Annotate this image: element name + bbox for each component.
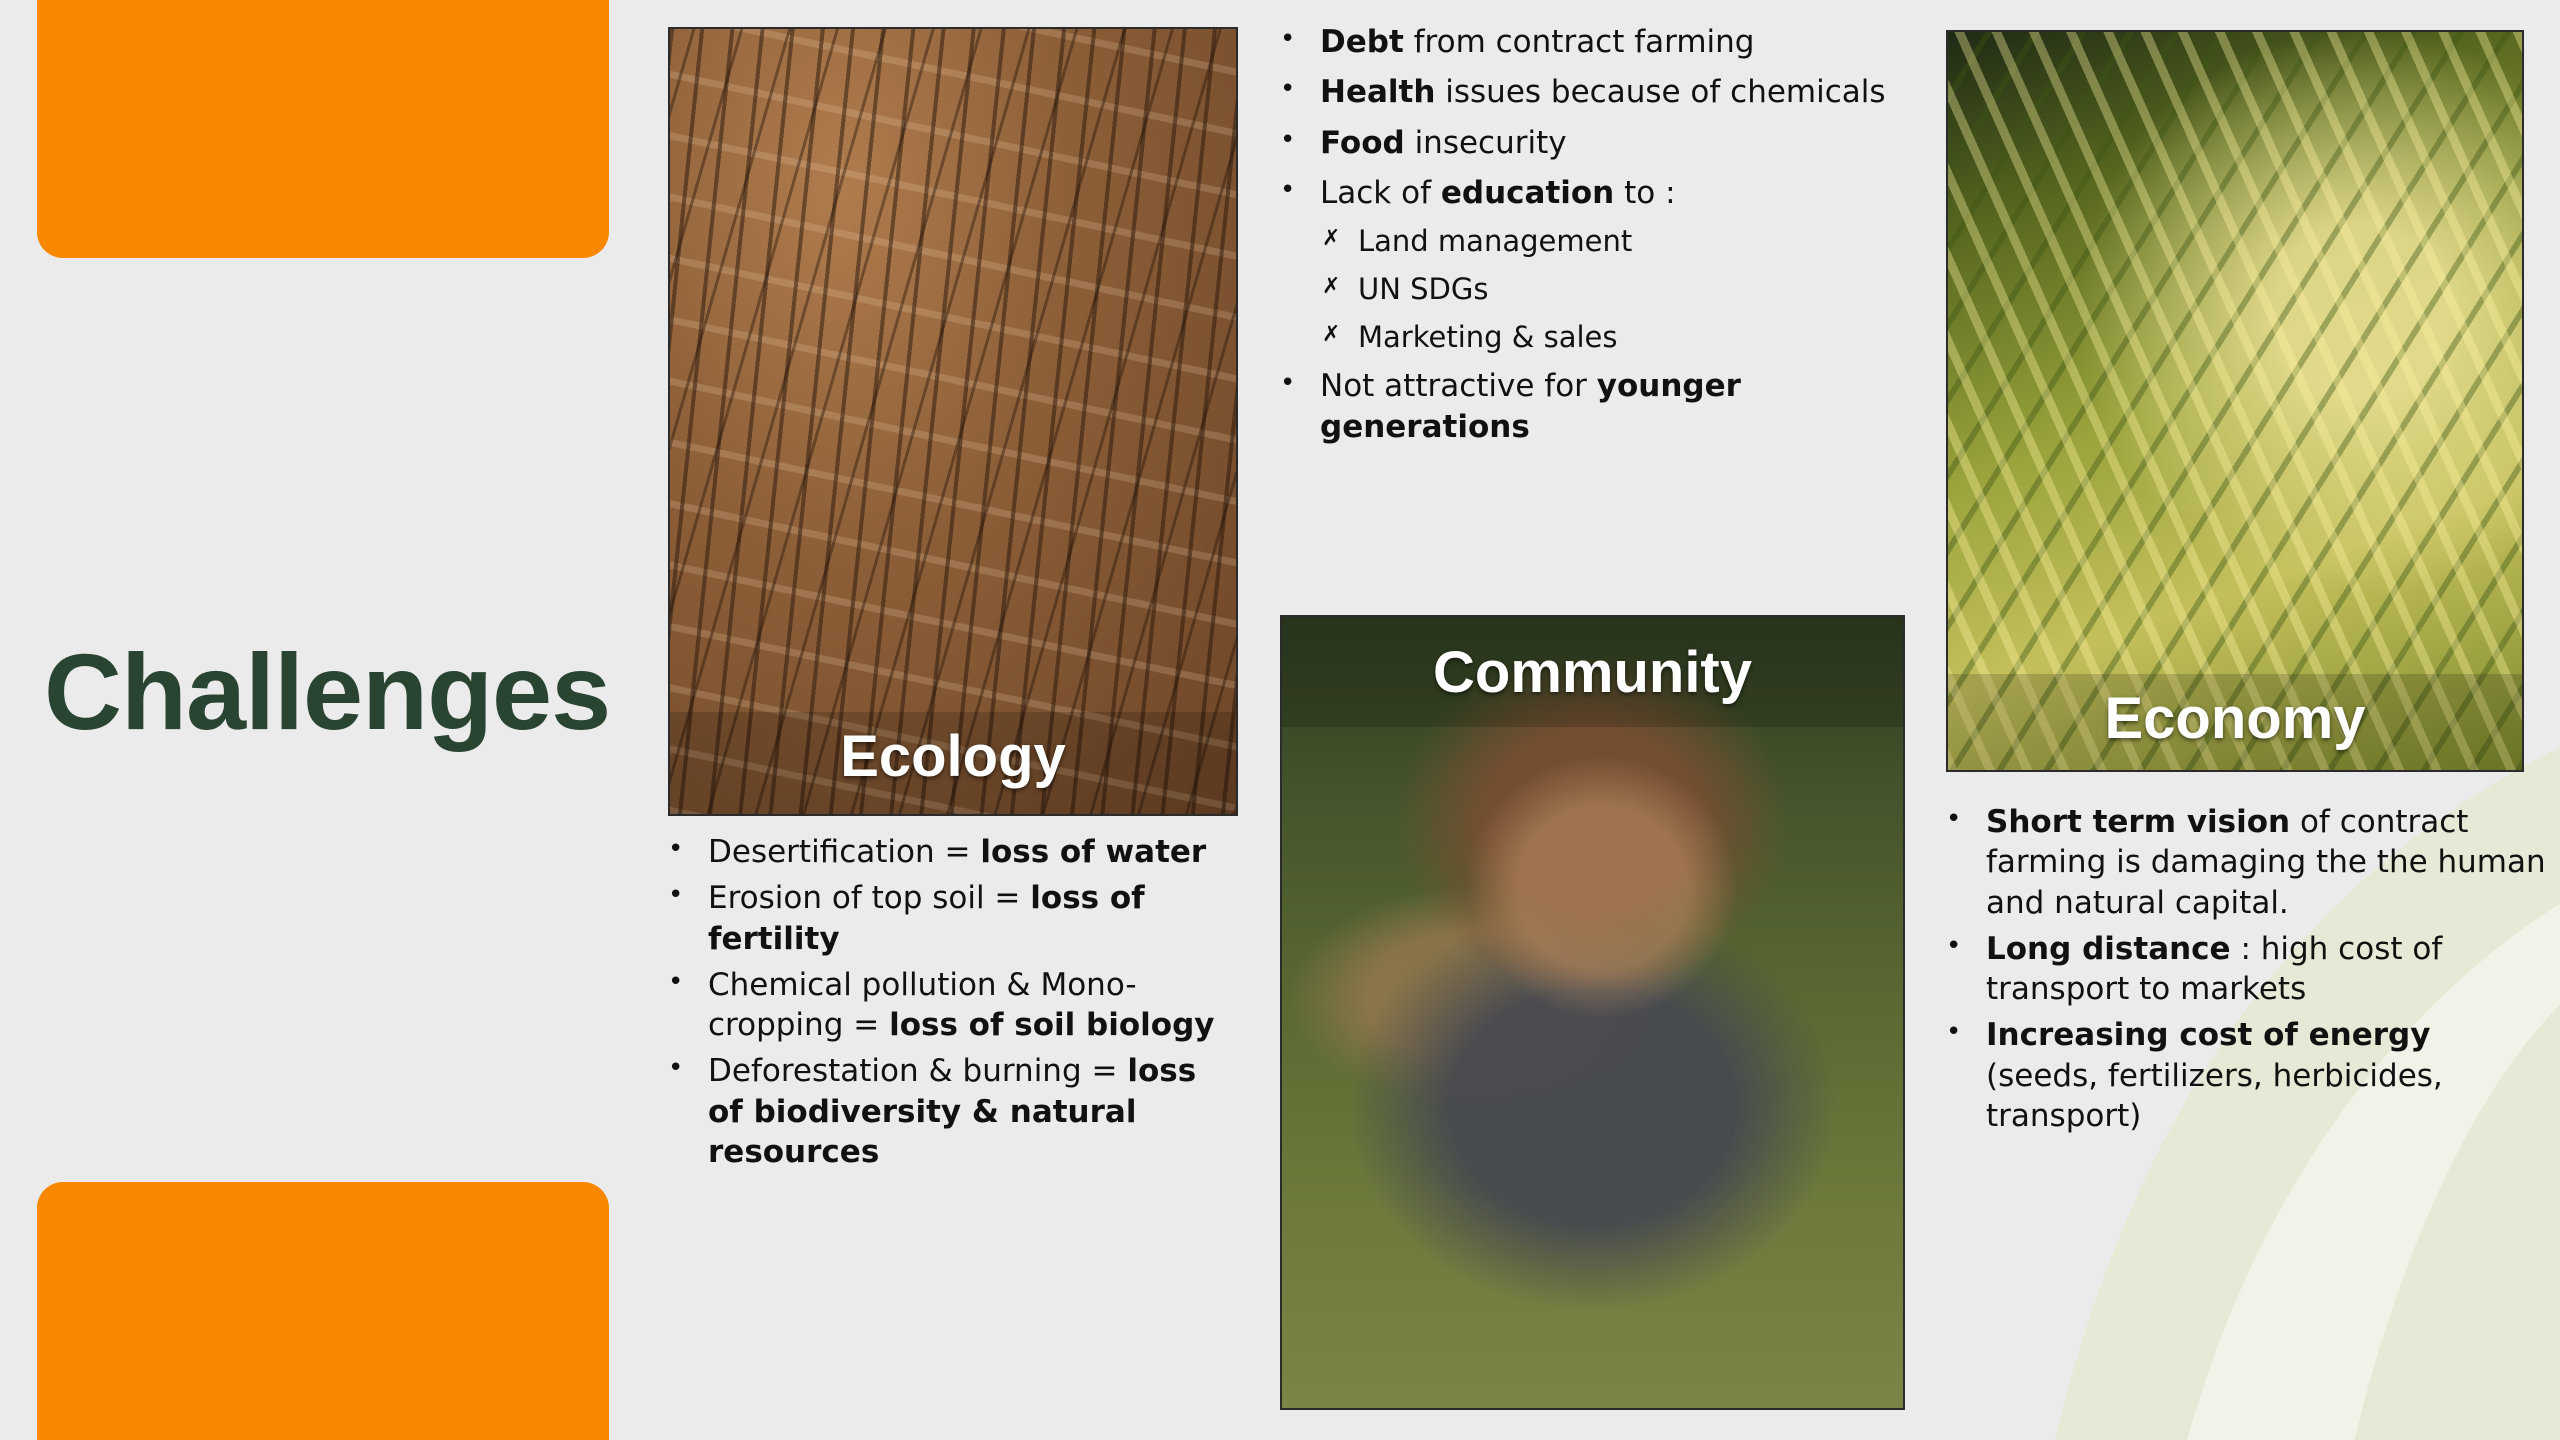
list-item: •Desertification = loss of water (668, 832, 1238, 872)
list-item-label: Lack of education to : (1320, 173, 1940, 213)
list-item-label: Desertification = loss of water (708, 832, 1238, 872)
list-item-label: Marketing & sales (1358, 319, 1940, 357)
list-item-label: Food insecurity (1320, 123, 1940, 163)
list-item: •Food insecurity (1280, 123, 1940, 163)
bullet-dot-icon: • (1946, 802, 1986, 838)
bullet-dot-icon: • (668, 832, 708, 868)
list-item: ✗UN SDGs (1322, 271, 1940, 309)
bullet-dot-icon: • (1280, 22, 1320, 58)
list-item: •Short term vision of contract farming i… (1946, 802, 2546, 923)
list-item-label: Deforestation & burning = loss of biodiv… (708, 1051, 1238, 1172)
list-item-label: Chemical pollution & Mono-cropping = los… (708, 965, 1238, 1046)
list-item: •Not attractive for younger generations (1280, 366, 1940, 447)
list-item: •Erosion of top soil = loss of fertility (668, 878, 1238, 959)
list-item: •Increasing cost of energy (seeds, ferti… (1946, 1015, 2546, 1136)
photo-community-caption: Community (1282, 639, 1903, 706)
list-item: •Lack of education to : (1280, 173, 1940, 213)
photo-ecology-caption: Ecology (670, 723, 1236, 790)
economy-bullet-list: •Short term vision of contract farming i… (1946, 802, 2546, 1142)
list-item: •Debt from contract farming (1280, 22, 1940, 62)
list-item: •Deforestation & burning = loss of biodi… (668, 1051, 1238, 1172)
bullet-dot-icon: • (1946, 1015, 1986, 1051)
decorative-orange-block-top (37, 0, 609, 258)
bullet-dot-icon: • (668, 965, 708, 1001)
photo-ecology: Ecology (668, 27, 1238, 816)
bullet-dot-icon: • (668, 1051, 708, 1087)
list-item-label: Erosion of top soil = loss of fertility (708, 878, 1238, 959)
ecology-bullet-list: •Desertification = loss of water•Erosion… (668, 832, 1238, 1178)
list-item: •Health issues because of chemicals (1280, 72, 1940, 112)
list-item-label: Debt from contract farming (1320, 22, 1940, 62)
bullet-dot-icon: • (1946, 929, 1986, 965)
list-item: ✗Land management (1322, 223, 1940, 261)
list-item: •Long distance : high cost of transport … (1946, 929, 2546, 1010)
list-item: •Chemical pollution & Mono-cropping = lo… (668, 965, 1238, 1046)
photo-ecology-image (670, 29, 1236, 814)
list-item: ✗Marketing & sales (1322, 319, 1940, 357)
list-item-label: Short term vision of contract farming is… (1986, 802, 2546, 923)
bullet-cross-icon: ✗ (1322, 271, 1358, 303)
bullet-cross-icon: ✗ (1322, 319, 1358, 351)
decorative-orange-block-bottom (37, 1182, 609, 1440)
photo-economy-image (1948, 32, 2522, 770)
community-bullet-list: •Debt from contract farming•Health issue… (1280, 22, 1940, 457)
bullet-dot-icon: • (668, 878, 708, 914)
list-item-label: Land management (1358, 223, 1940, 261)
list-item-label: Long distance : high cost of transport t… (1986, 929, 2546, 1010)
list-item-label: Increasing cost of energy (seeds, fertil… (1986, 1015, 2546, 1136)
page-title: Challenges (44, 635, 624, 748)
slide-canvas: Challenges Ecology Community Economy •De… (0, 0, 2560, 1440)
photo-economy: Economy (1946, 30, 2524, 772)
photo-community-image (1282, 617, 1903, 1408)
list-item-label: Health issues because of chemicals (1320, 72, 1940, 112)
bullet-dot-icon: • (1280, 366, 1320, 402)
photo-economy-caption: Economy (1948, 685, 2522, 752)
list-item-label: Not attractive for younger generations (1320, 366, 1940, 447)
bullet-cross-icon: ✗ (1322, 223, 1358, 255)
bullet-dot-icon: • (1280, 72, 1320, 108)
photo-community: Community (1280, 615, 1905, 1410)
list-item-label: UN SDGs (1358, 271, 1940, 309)
bullet-dot-icon: • (1280, 173, 1320, 209)
bullet-dot-icon: • (1280, 123, 1320, 159)
